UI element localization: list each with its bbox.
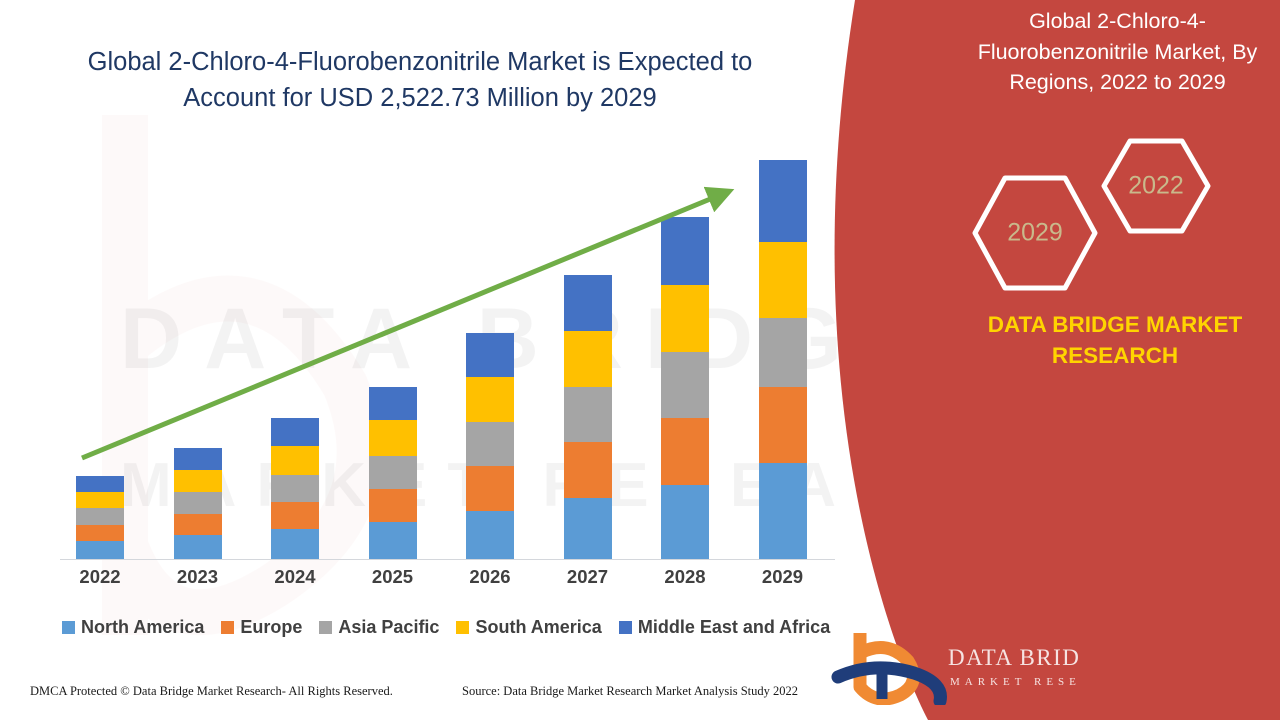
bar-segment-north-america: [759, 463, 807, 559]
bar-segment-middle-east-and-africa: [369, 387, 417, 420]
bar-segment-north-america: [369, 522, 417, 559]
bar-segment-south-america: [174, 470, 222, 493]
x-axis-label-2029: 2029: [743, 566, 823, 588]
logo-word-top: DATA BRIDGE: [948, 645, 1080, 670]
bar-segment-asia-pacific: [466, 422, 514, 466]
bar-2028: [661, 217, 709, 559]
legend-swatch-icon: [456, 621, 469, 634]
legend-swatch-icon: [62, 621, 75, 634]
bar-2026: [466, 333, 514, 559]
bar-segment-north-america: [564, 498, 612, 559]
bar-segment-asia-pacific: [661, 352, 709, 418]
legend-label: North America: [81, 617, 204, 638]
x-axis-label-2026: 2026: [450, 566, 530, 588]
x-axis-label-2027: 2027: [548, 566, 628, 588]
bar-segment-europe: [76, 525, 124, 541]
bar-segment-asia-pacific: [564, 387, 612, 442]
hexagon-year-2022-label: 2022: [1128, 172, 1184, 200]
x-axis-line: [60, 559, 835, 560]
legend-swatch-icon: [619, 621, 632, 634]
bar-segment-middle-east-and-africa: [466, 333, 514, 377]
bar-segment-north-america: [76, 541, 124, 559]
bar-segment-north-america: [174, 535, 222, 559]
bar-2023: [174, 448, 222, 559]
bar-segment-south-america: [271, 446, 319, 475]
bar-segment-europe: [174, 514, 222, 536]
x-axis-label-2022: 2022: [60, 566, 140, 588]
footer-dmca-text: DMCA Protected © Data Bridge Market Rese…: [30, 684, 393, 699]
brand-name-line1: DATA BRIDGE MARKET: [960, 312, 1270, 338]
x-axis-label-2028: 2028: [645, 566, 725, 588]
bar-2024: [271, 418, 319, 559]
bar-2022: [76, 476, 124, 559]
bar-segment-middle-east-and-africa: [271, 418, 319, 446]
legend-item-south-america[interactable]: South America: [456, 617, 601, 638]
bar-segment-europe: [564, 442, 612, 498]
bar-segment-asia-pacific: [76, 508, 124, 524]
bar-segment-europe: [271, 502, 319, 529]
bar-segment-north-america: [271, 529, 319, 559]
bar-segment-europe: [759, 387, 807, 463]
bar-segment-south-america: [564, 331, 612, 387]
x-axis-label-2024: 2024: [255, 566, 335, 588]
bar-segment-south-america: [76, 492, 124, 508]
bar-segment-asia-pacific: [271, 475, 319, 502]
bar-segment-south-america: [466, 377, 514, 422]
legend-label: Europe: [240, 617, 302, 638]
logo-word-bottom: MARKET RESEARCH: [950, 676, 1080, 688]
bar-segment-north-america: [661, 485, 709, 559]
bar-segment-middle-east-and-africa: [661, 217, 709, 285]
bar-segment-europe: [661, 418, 709, 485]
bar-segment-asia-pacific: [369, 456, 417, 489]
legend-swatch-icon: [221, 621, 234, 634]
legend-item-north-america[interactable]: North America: [62, 617, 204, 638]
x-axis-label-2023: 2023: [158, 566, 238, 588]
bar-segment-europe: [466, 466, 514, 510]
bar-segment-middle-east-and-africa: [564, 275, 612, 331]
x-axis-label-2025: 2025: [353, 566, 433, 588]
brand-name-line2: RESEARCH: [960, 343, 1270, 369]
bar-segment-europe: [369, 489, 417, 522]
x-axis-labels: 20222023202420252026202720282029: [60, 566, 835, 596]
bar-2025: [369, 387, 417, 559]
chart-plot-area: [60, 150, 835, 560]
bar-segment-south-america: [759, 242, 807, 318]
data-bridge-logo-icon: DATA BRIDGE MARKET RESEARCH: [830, 625, 1080, 705]
bar-segment-asia-pacific: [174, 492, 222, 514]
bar-segment-middle-east-and-africa: [174, 448, 222, 470]
brand-panel: Global 2-Chloro-4-Fluorobenzonitrile Mar…: [820, 0, 1280, 720]
legend-label: Asia Pacific: [338, 617, 439, 638]
legend-swatch-icon: [319, 621, 332, 634]
legend-item-europe[interactable]: Europe: [221, 617, 302, 638]
legend-item-middle-east-and-africa[interactable]: Middle East and Africa: [619, 617, 830, 638]
bar-segment-middle-east-and-africa: [76, 476, 124, 492]
bar-segment-north-america: [466, 511, 514, 559]
bar-segment-south-america: [661, 285, 709, 353]
legend-label: South America: [475, 617, 601, 638]
footer-source-text: Source: Data Bridge Market Research Mark…: [462, 684, 798, 699]
page-title: Global 2-Chloro-4-Fluorobenzonitrile Mar…: [70, 44, 770, 116]
legend-label: Middle East and Africa: [638, 617, 830, 638]
bar-2029: [759, 160, 807, 559]
bar-segment-south-america: [369, 420, 417, 456]
bar-2027: [564, 275, 612, 559]
hexagon-year-2029-label: 2029: [1007, 219, 1063, 247]
bar-segment-asia-pacific: [759, 318, 807, 387]
chart-legend: North AmericaEuropeAsia PacificSouth Ame…: [62, 617, 830, 638]
legend-item-asia-pacific[interactable]: Asia Pacific: [319, 617, 439, 638]
bar-segment-middle-east-and-africa: [759, 160, 807, 242]
